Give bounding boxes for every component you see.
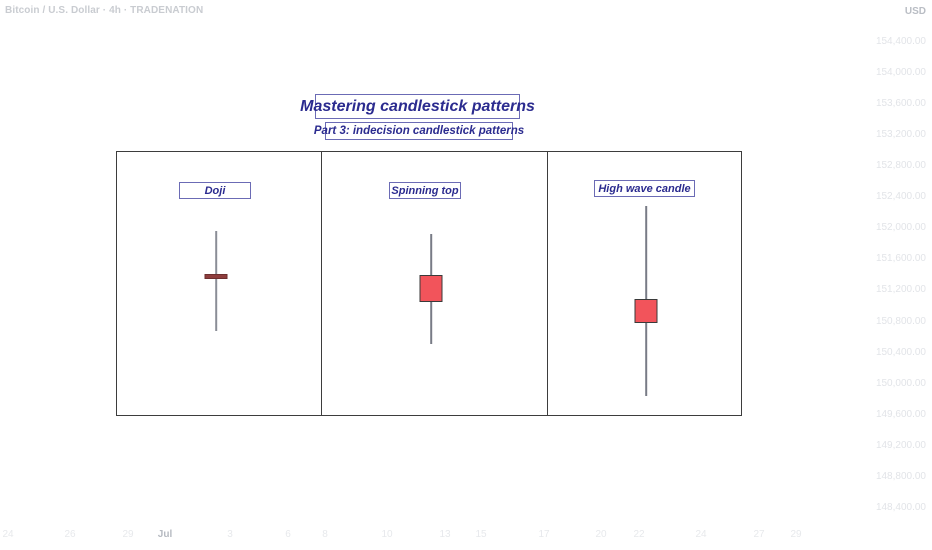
drawing-layer: Mastering candlestick patterns Part 3: i… [0,0,932,550]
label-doji[interactable]: Doji [179,182,251,199]
candle-body [635,299,658,323]
label-high-wave-candle[interactable]: High wave candle [594,180,695,197]
candle-high-wave[interactable] [635,206,658,396]
candle-body [420,275,443,302]
label-spinning-top[interactable]: Spinning top [389,182,461,199]
candle-spinning-top[interactable] [420,234,443,344]
candle-body [205,274,228,279]
title-sub-textbox[interactable]: Part 3: indecision candlestick patterns [325,122,513,140]
title-main-textbox[interactable]: Mastering candlestick patterns [315,94,520,119]
candle-wick [215,231,217,331]
chart-root: Bitcoin / U.S. Dollar · 4h · TRADENATION… [0,0,932,550]
candle-doji[interactable] [205,231,228,331]
